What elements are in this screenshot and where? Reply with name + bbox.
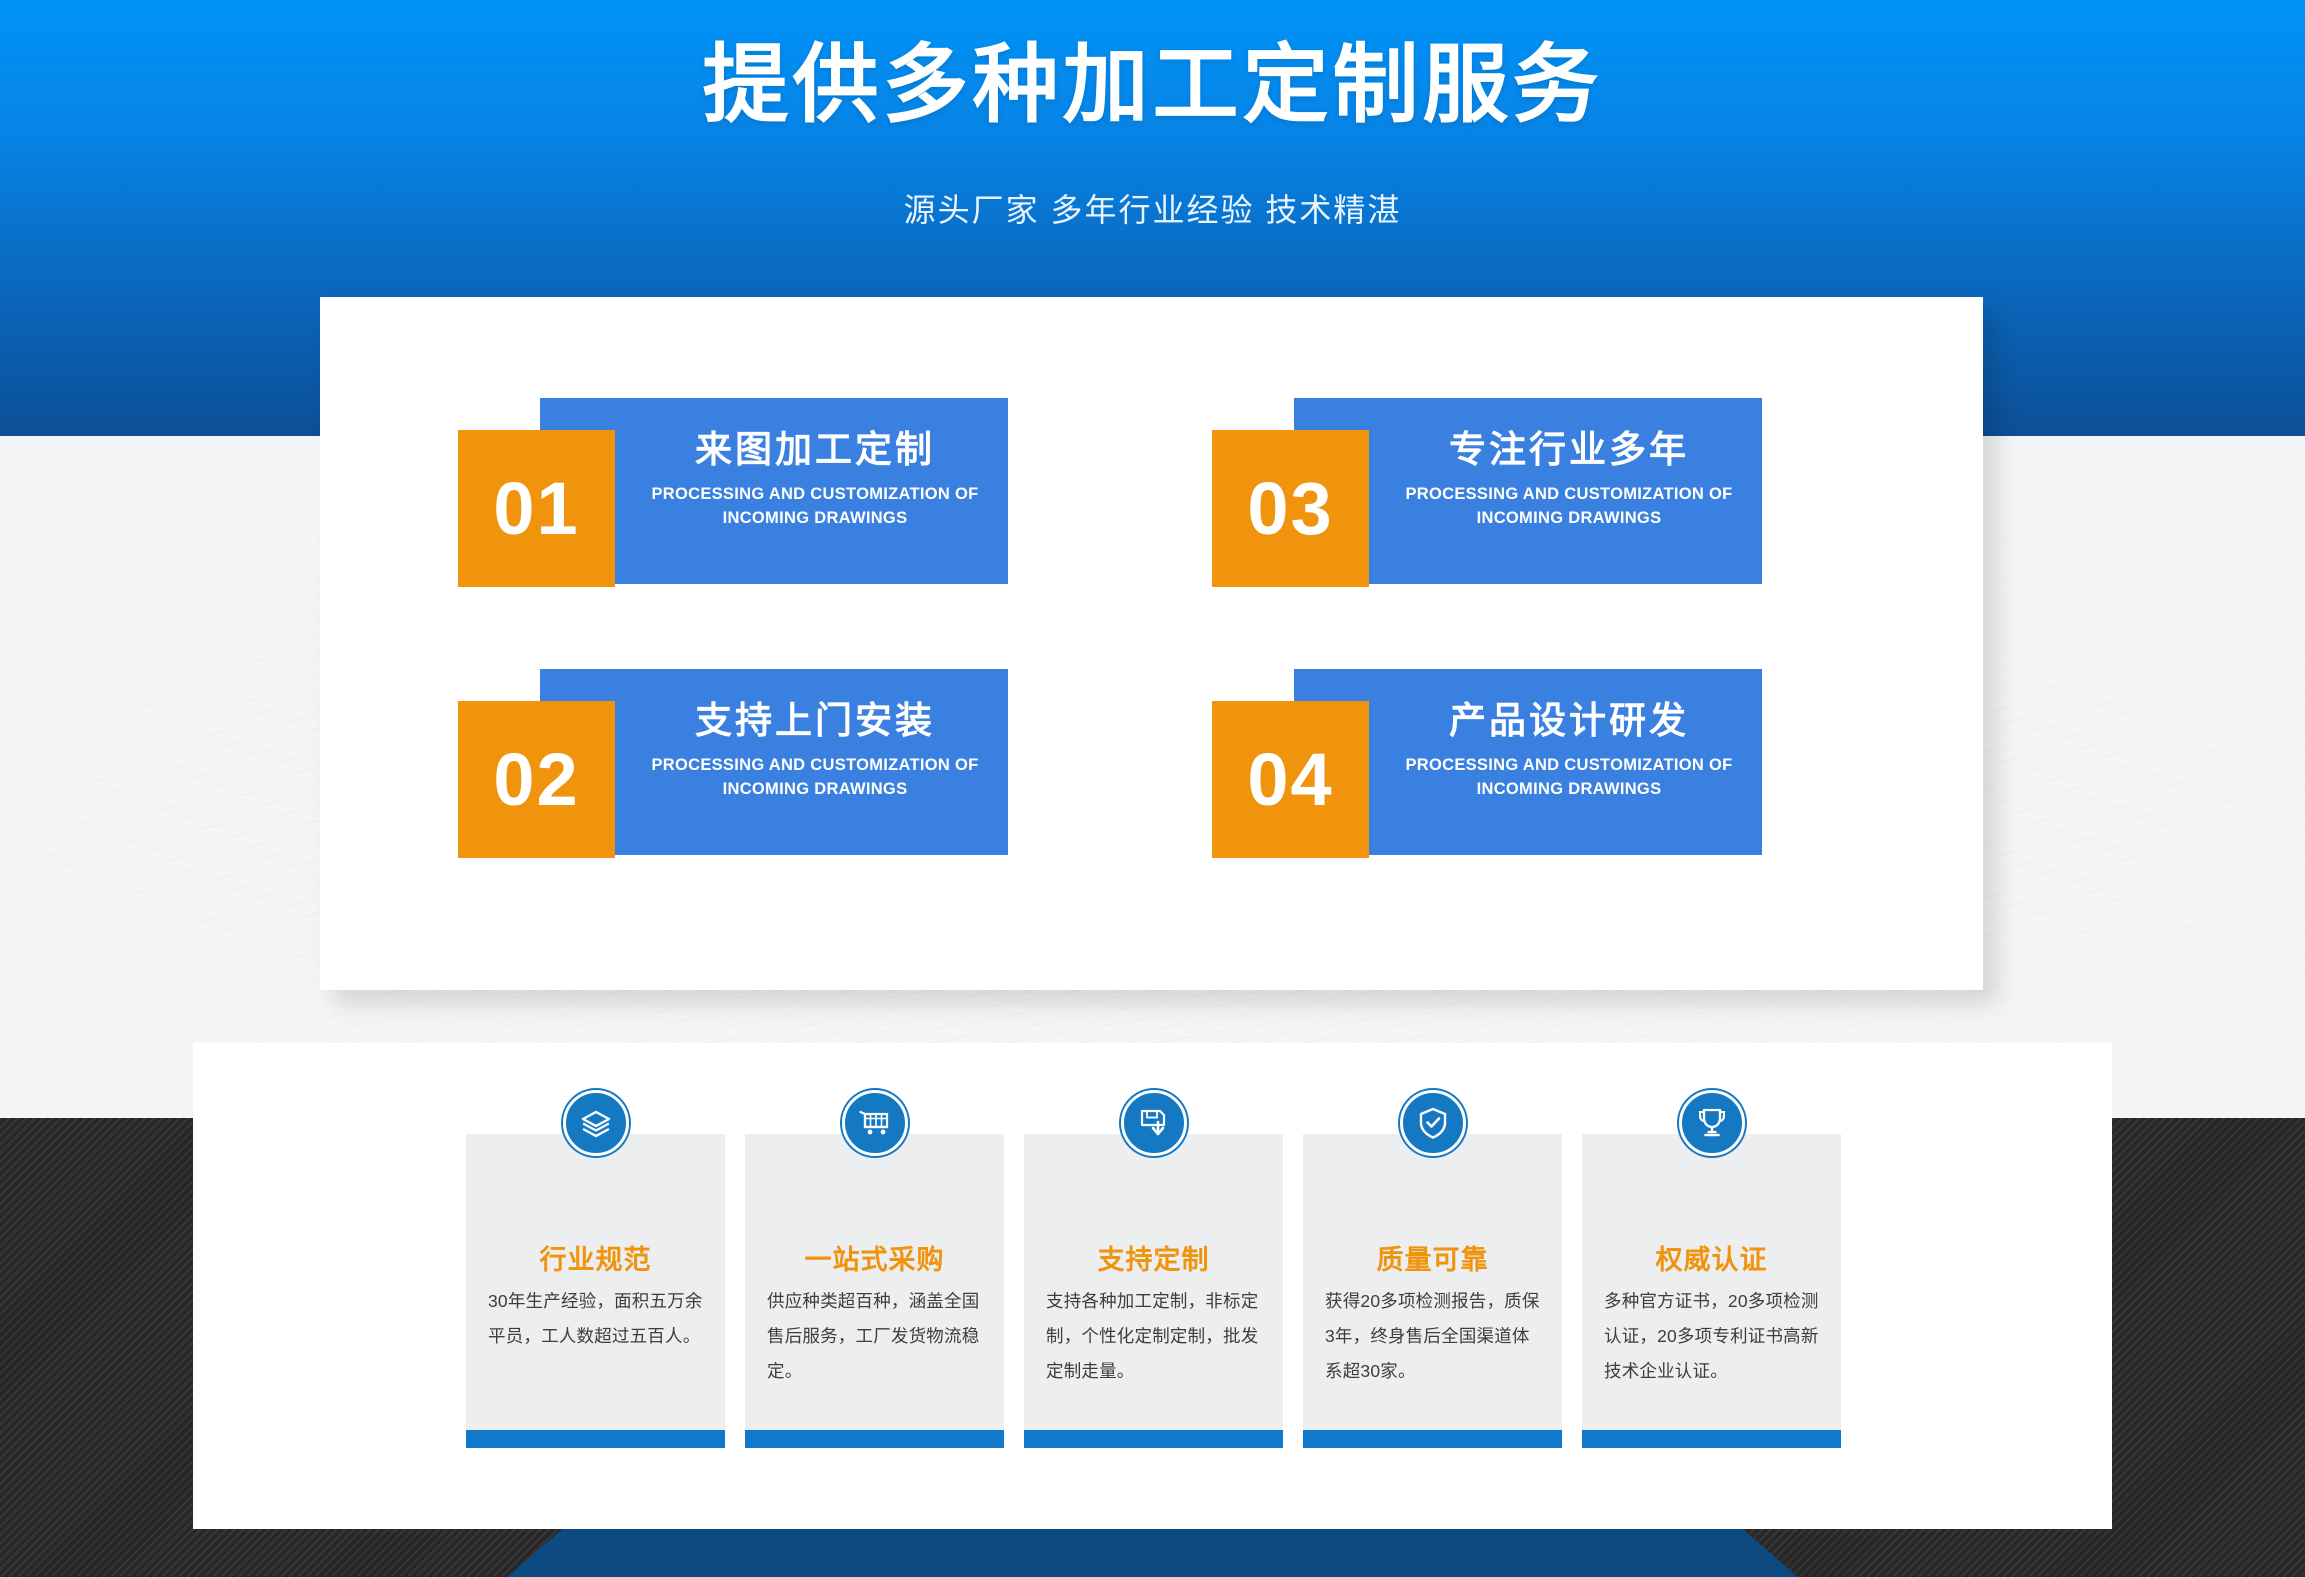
feature-card-one-stop-purchase[interactable]: 一站式采购 供应种类超百种，涵盖全国售后服务，工厂发货物流稳定。	[745, 1134, 1004, 1433]
numbered-card-03-badge: 03	[1212, 430, 1369, 587]
numbered-card-04-subtitle-line2: INCOMING DRAWINGS	[1477, 780, 1662, 798]
page-title: 提供多种加工定制服务	[0, 40, 2305, 130]
feature-card-3-title: 质量可靠	[1303, 1238, 1562, 1277]
feature-card-quality-reliable[interactable]: 质量可靠 获得20多项检测报告，质保3年，终身售后全国渠道体系超30家。	[1303, 1134, 1562, 1433]
feature-card-2-body: 支持各种加工定制，非标定制，个性化定制定制，批发定制走量。	[1046, 1284, 1261, 1389]
feature-card-industry-standard[interactable]: 行业规范 30年生产经验，面积五万余平员，工人数超过五百人。	[466, 1134, 725, 1433]
feature-card-authoritative-certification[interactable]: 权威认证 多种官方证书，20多项检测认证，20多项专利证书高新技术企业认证。	[1582, 1134, 1841, 1433]
layers-icon	[563, 1090, 629, 1156]
feature-card-1-body: 供应种类超百种，涵盖全国售后服务，工厂发货物流稳定。	[767, 1284, 982, 1389]
feature-card-row: 行业规范 30年生产经验，面积五万余平员，工人数超过五百人。 一站式采购 供应	[466, 1134, 1841, 1434]
numbered-card-03-text: 专注行业多年 PROCESSING AND CUSTOMIZATION OF I…	[1384, 428, 1754, 531]
numbered-card-01-badge: 01	[458, 430, 615, 587]
feature-card-4-body: 多种官方证书，20多项检测认证，20多项专利证书高新技术企业认证。	[1604, 1284, 1819, 1389]
numbered-card-02-subtitle: PROCESSING AND CUSTOMIZATION OF INCOMING…	[630, 754, 1000, 802]
promo-page: 提供多种加工定制服务 源头厂家 多年行业经验 技术精湛 来图加工定制 PROCE…	[0, 0, 2305, 1577]
numbered-card-01-number: 01	[493, 472, 579, 546]
feature-card-2-accent-bar	[1024, 1430, 1283, 1448]
numbered-card-04-title: 产品设计研发	[1384, 699, 1754, 743]
feature-card-1-title: 一站式采购	[745, 1238, 1004, 1277]
numbered-card-04-number: 04	[1247, 743, 1333, 817]
numbered-card-01-subtitle-line2: INCOMING DRAWINGS	[723, 509, 908, 527]
numbered-card-02-badge: 02	[458, 701, 615, 858]
numbered-card-02-subtitle-line1: PROCESSING AND CUSTOMIZATION OF	[651, 756, 978, 774]
feature-card-0-title: 行业规范	[466, 1238, 725, 1277]
numbered-card-01-title: 来图加工定制	[630, 428, 1000, 472]
feature-card-1-accent-bar	[745, 1430, 1004, 1448]
numbered-card-03-number: 03	[1247, 472, 1333, 546]
numbered-card-02-title: 支持上门安装	[630, 699, 1000, 743]
shield-check-icon	[1400, 1090, 1466, 1156]
numbered-card-03-title: 专注行业多年	[1384, 428, 1754, 472]
numbered-card-04-subtitle-line1: PROCESSING AND CUSTOMIZATION OF	[1405, 756, 1732, 774]
save-download-icon	[1121, 1090, 1187, 1156]
feature-card-2-title: 支持定制	[1024, 1238, 1283, 1277]
page-subtitle: 源头厂家 多年行业经验 技术精湛	[0, 185, 2305, 231]
shopping-cart-icon	[842, 1090, 908, 1156]
numbered-card-01-subtitle-line1: PROCESSING AND CUSTOMIZATION OF	[651, 485, 978, 503]
numbered-card-03-subtitle-line1: PROCESSING AND CUSTOMIZATION OF	[1405, 485, 1732, 503]
trophy-icon	[1679, 1090, 1745, 1156]
feature-card-4-accent-bar	[1582, 1430, 1841, 1448]
numbered-card-03-subtitle-line2: INCOMING DRAWINGS	[1477, 509, 1662, 527]
numbered-card-02-text: 支持上门安装 PROCESSING AND CUSTOMIZATION OF I…	[630, 699, 1000, 802]
feature-card-0-body: 30年生产经验，面积五万余平员，工人数超过五百人。	[488, 1284, 703, 1354]
feature-card-3-body: 获得20多项检测报告，质保3年，终身售后全国渠道体系超30家。	[1325, 1284, 1540, 1389]
feature-card-0-accent-bar	[466, 1430, 725, 1448]
numbered-card-04-subtitle: PROCESSING AND CUSTOMIZATION OF INCOMING…	[1384, 754, 1754, 802]
feature-card-3-accent-bar	[1303, 1430, 1562, 1448]
numbered-card-01-text: 来图加工定制 PROCESSING AND CUSTOMIZATION OF I…	[630, 428, 1000, 531]
feature-card-custom-support[interactable]: 支持定制 支持各种加工定制，非标定制，个性化定制定制，批发定制走量。	[1024, 1134, 1283, 1433]
numbered-card-01-subtitle: PROCESSING AND CUSTOMIZATION OF INCOMING…	[630, 483, 1000, 531]
numbered-card-03-subtitle: PROCESSING AND CUSTOMIZATION OF INCOMING…	[1384, 483, 1754, 531]
numbered-card-04-badge: 04	[1212, 701, 1369, 858]
numbered-card-02-subtitle-line2: INCOMING DRAWINGS	[723, 780, 908, 798]
numbered-card-02-number: 02	[493, 743, 579, 817]
feature-card-4-title: 权威认证	[1582, 1238, 1841, 1277]
numbered-card-04-text: 产品设计研发 PROCESSING AND CUSTOMIZATION OF I…	[1384, 699, 1754, 802]
